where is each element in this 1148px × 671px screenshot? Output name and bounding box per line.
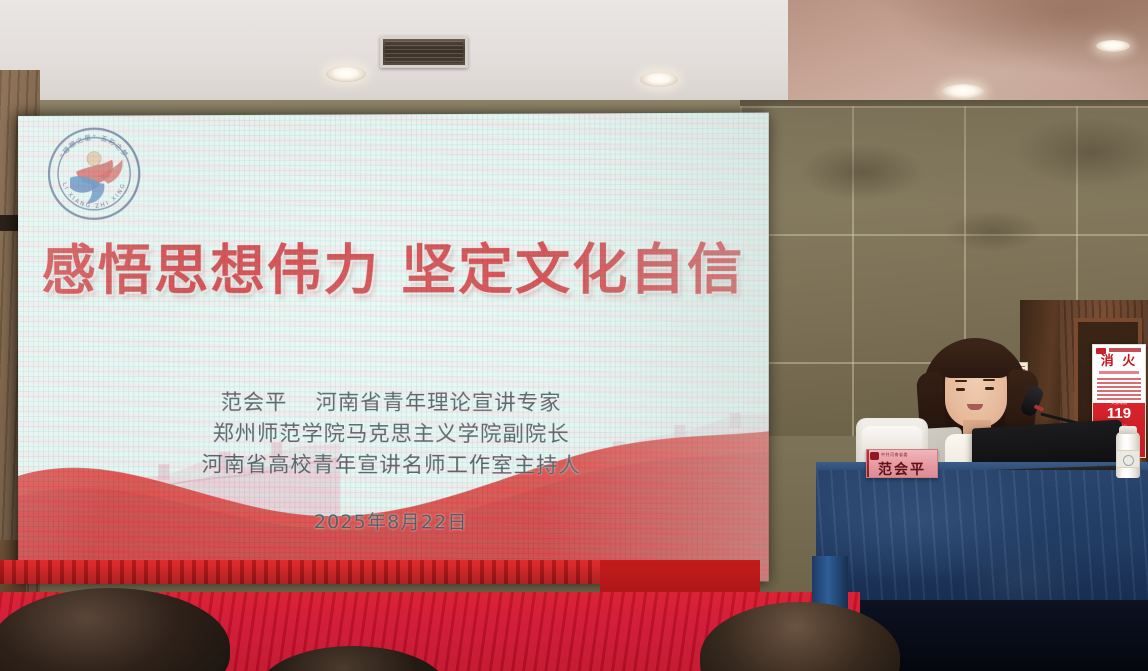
nameplate-name-text: 范会平	[867, 459, 937, 478]
speaker-nameplate: 中共河南省委 范会平	[866, 449, 938, 478]
slide-subtitle-line-2: 郑州师范学院马克思主义学院副院长	[18, 419, 769, 449]
slide-title: 感悟思想伟力 坚定文化自信	[18, 242, 769, 298]
li-xiang-zhi-emblem: “理想之星” 五彩之梦 LI XIANG ZHI XING	[46, 125, 142, 221]
slide-subtitle-line-1: 范会平河南省青年理论宣讲专家	[18, 388, 769, 418]
poster-body-text	[1097, 378, 1141, 400]
speaker-eye-right	[985, 387, 994, 390]
speaker-hair-front	[939, 342, 1013, 378]
speaker-eye-left	[956, 388, 965, 391]
water-bottle-label	[1117, 450, 1139, 468]
ceiling-light-2	[640, 72, 678, 87]
ceiling-light-4	[1096, 40, 1130, 52]
led-presentation-screen: “理想之星” 五彩之梦 LI XIANG ZHI XING 感悟思想伟力 坚定文…	[18, 113, 769, 582]
photo-scene: 消 火 火警电话 119 有火报火	[0, 0, 1148, 671]
slide-subtitle-line-3: 河南省高校青年宣讲名师工作室主持人	[18, 450, 769, 481]
speaker-brow-right	[983, 379, 995, 381]
slide-presenter-role: 河南省青年理论宣讲专家	[316, 390, 562, 414]
slide-date: 2025年8月22日	[18, 506, 769, 536]
water-bottle-cap	[1119, 426, 1137, 434]
speaker-brow-left	[955, 380, 967, 382]
nameplate-org-text: 中共河南省委	[881, 452, 908, 458]
air-vent	[380, 36, 468, 68]
ceiling-light-1	[326, 66, 366, 82]
poster-subrule	[1099, 371, 1139, 374]
poster-title: 消 火	[1093, 355, 1145, 368]
poster-header-rule	[1109, 348, 1141, 352]
slide-presenter-name: 范会平	[221, 390, 316, 414]
ceiling-light-3	[942, 84, 984, 99]
foreground-dark-area	[860, 600, 1148, 671]
